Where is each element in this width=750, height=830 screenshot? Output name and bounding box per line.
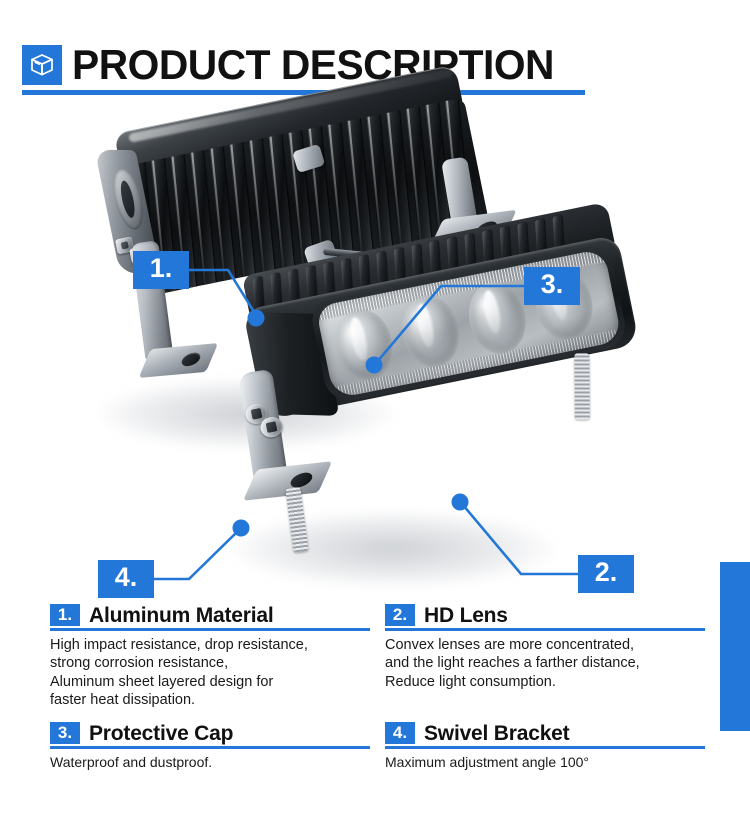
callout-badge-1: 1. — [133, 251, 189, 289]
callout-badge-3: 3. — [524, 267, 580, 305]
feature-list: 1. Aluminum Material High impact resista… — [0, 604, 750, 804]
feature-number-badge: 1. — [50, 604, 80, 626]
feature-title: Aluminum Material — [89, 605, 273, 626]
feature-title: HD Lens — [424, 605, 508, 626]
feature-description: High impact resistance, drop resistance,… — [50, 636, 370, 710]
blue-edge-tab — [720, 562, 750, 731]
feature-title: Protective Cap — [89, 723, 233, 744]
feature-heading: 3. Protective Cap — [50, 722, 370, 749]
led-light-bar-photo: 1. 2. 3. 4. — [0, 110, 750, 600]
feature-description: Waterproof and dustproof. — [50, 754, 370, 772]
feature-description: Maximum adjustment angle 100° — [385, 754, 705, 772]
convex-lens-3 — [463, 277, 532, 359]
feature-item-hd-lens: 2. HD Lens Convex lenses are more concen… — [385, 604, 705, 691]
header-row: PRODUCT DESCRIPTION — [22, 40, 622, 90]
feature-item-protective-cap: 3. Protective Cap Waterproof and dustpro… — [50, 722, 370, 772]
feature-title: Swivel Bracket — [424, 723, 569, 744]
feature-description: Convex lenses are more concentrated, and… — [385, 636, 705, 691]
front-right-mounting-stud — [574, 353, 590, 419]
package-box-icon — [22, 45, 62, 85]
feature-item-swivel-bracket: 4. Swivel Bracket Maximum adjustment ang… — [385, 722, 705, 772]
feature-heading: 1. Aluminum Material — [50, 604, 370, 631]
feature-heading: 4. Swivel Bracket — [385, 722, 705, 749]
feature-number-badge: 2. — [385, 604, 415, 626]
feature-number-badge: 4. — [385, 722, 415, 744]
front-unit-shadow — [228, 510, 558, 588]
feature-heading: 2. HD Lens — [385, 604, 705, 631]
page-title: PRODUCT DESCRIPTION — [72, 44, 554, 86]
callout-badge-4: 4. — [98, 560, 154, 598]
page-header: PRODUCT DESCRIPTION — [22, 40, 622, 98]
feature-number-badge: 3. — [50, 722, 80, 744]
convex-lens-2 — [396, 291, 465, 373]
convex-lens-1 — [329, 304, 398, 386]
product-image: 1. 2. 3. 4. — [0, 110, 750, 600]
callout-badge-2: 2. — [578, 555, 634, 593]
feature-item-aluminum-material: 1. Aluminum Material High impact resista… — [50, 604, 370, 710]
